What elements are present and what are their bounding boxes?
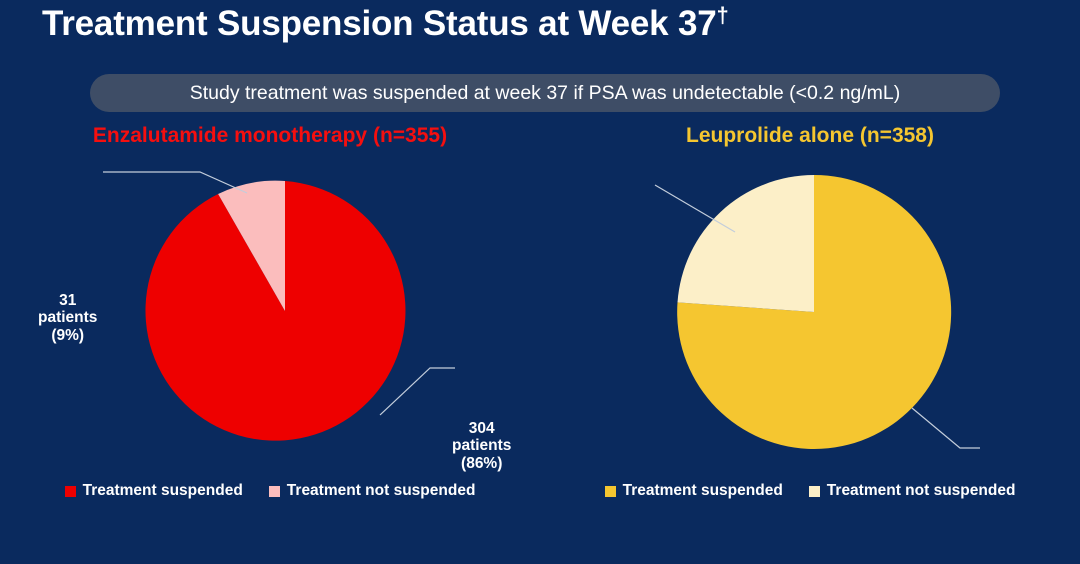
callout-unit: patients — [38, 309, 97, 326]
callout-count: 31 — [38, 292, 97, 309]
leader-line-suspended — [912, 408, 980, 448]
legend-swatch-icon — [809, 486, 820, 497]
page-title: Treatment Suspension Status at Week 37† — [42, 4, 729, 44]
callout-percent: (86%) — [452, 455, 511, 472]
pie-svg-leuprolide — [540, 120, 1080, 514]
subtitle-banner-text: Study treatment was suspended at week 37… — [190, 82, 901, 105]
leader-line-suspended — [380, 368, 455, 415]
callout-percent: (9%) — [38, 327, 97, 344]
subtitle-banner: Study treatment was suspended at week 37… — [90, 74, 1000, 112]
callout-not-suspended-enzalutamide: 31 patients (9%) — [38, 292, 97, 344]
pie-chart-leuprolide — [540, 120, 1080, 514]
legend-swatch-icon — [65, 486, 76, 497]
callout-count: 304 — [452, 420, 511, 437]
chart-panel-enzalutamide: Enzalutamide monotherapy (n=355) 31 pati… — [0, 120, 540, 514]
callout-suspended-enzalutamide: 304 patients (86%) — [452, 420, 511, 472]
legend-leuprolide: Treatment suspended Treatment not suspen… — [540, 482, 1080, 500]
leader-line-not-suspended — [655, 185, 735, 232]
legend-enzalutamide: Treatment suspended Treatment not suspen… — [0, 482, 540, 500]
legend-item-label: Treatment not suspended — [827, 482, 1016, 500]
legend-item-not-suspended[interactable]: Treatment not suspended — [809, 482, 1016, 500]
legend-swatch-icon — [605, 486, 616, 497]
legend-item-label: Treatment suspended — [623, 482, 783, 500]
legend-item-label: Treatment not suspended — [287, 482, 476, 500]
legend-swatch-icon — [269, 486, 280, 497]
title-footnote-dagger: † — [716, 2, 728, 27]
legend-item-not-suspended[interactable]: Treatment not suspended — [269, 482, 476, 500]
chart-panel-leuprolide: Leuprolide alone (n=358) 92 patients (26… — [540, 120, 1080, 514]
callout-unit: patients — [452, 437, 511, 454]
legend-item-label: Treatment suspended — [83, 482, 243, 500]
page-title-text: Treatment Suspension Status at Week 37 — [42, 4, 716, 43]
pie-slice-not-suspended — [678, 175, 815, 312]
legend-item-suspended[interactable]: Treatment suspended — [65, 482, 243, 500]
legend-item-suspended[interactable]: Treatment suspended — [605, 482, 783, 500]
leader-line-not-suspended — [103, 172, 247, 193]
